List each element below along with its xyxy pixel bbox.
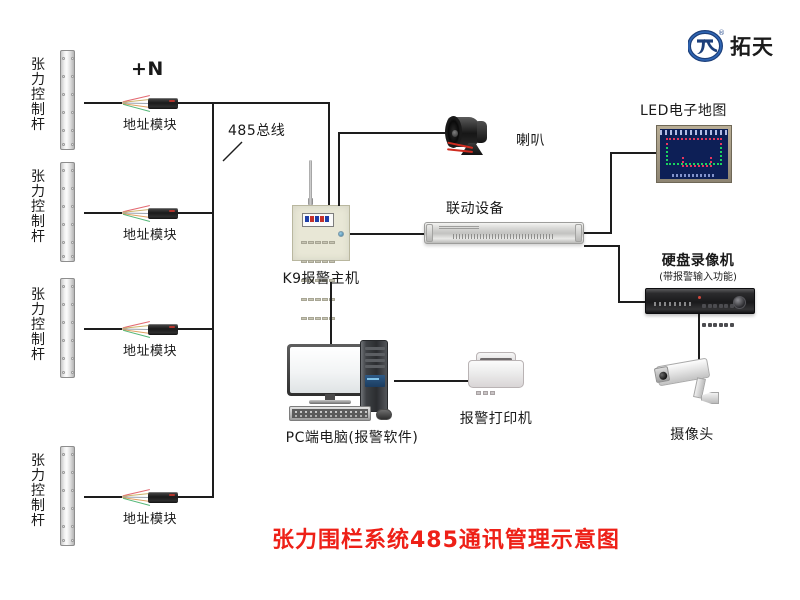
linkage-to-ledmap-vertical bbox=[610, 152, 612, 234]
tension-pole-1 bbox=[60, 50, 75, 150]
module-to-bus-wire-1 bbox=[178, 102, 214, 104]
brand-logo: ® 拓天 bbox=[688, 30, 774, 62]
cctv-camera bbox=[655, 358, 727, 410]
address-module-4 bbox=[122, 486, 178, 508]
camera-label: 摄像头 bbox=[670, 424, 714, 444]
led-map-device bbox=[656, 125, 732, 183]
linkage-to-dvr-vertical bbox=[618, 245, 620, 303]
module-label-3: 地址模块 bbox=[123, 340, 177, 359]
pc-mouse bbox=[376, 409, 392, 420]
bus-to-host-vertical bbox=[328, 102, 330, 212]
ledmap-label: LED电子地图 bbox=[640, 100, 727, 120]
host-to-siren-horizontal bbox=[338, 132, 448, 134]
siren-speaker bbox=[447, 115, 503, 157]
tuotian-swirl-icon: ® bbox=[688, 30, 724, 62]
linkage-label: 联动设备 bbox=[446, 198, 504, 218]
pc-tower bbox=[360, 340, 388, 412]
expand-count-label: +N bbox=[131, 58, 164, 80]
dvr-label: 硬盘录像机 bbox=[662, 250, 735, 270]
linkage-to-dvr-horizontal bbox=[584, 245, 620, 247]
pole-to-module-wire-4 bbox=[84, 496, 122, 498]
tension-pole-4 bbox=[60, 446, 75, 546]
linkage-to-ledmap-horizontal bbox=[584, 232, 612, 234]
pole-to-module-wire-2 bbox=[84, 212, 122, 214]
ledmap-input-wire bbox=[610, 152, 658, 154]
host-to-pc-wire bbox=[330, 282, 332, 344]
host-antenna-icon bbox=[309, 160, 312, 200]
address-module-2 bbox=[122, 202, 178, 224]
pole-label-2: 张力控制杆 bbox=[30, 170, 46, 245]
tension-pole-2 bbox=[60, 162, 75, 262]
pc-keyboard bbox=[289, 406, 371, 421]
diagram-canvas: ® 拓天 张力控制杆 地址模块 +N 张力控制杆 bbox=[0, 0, 800, 600]
pole-label-1: 张力控制杆 bbox=[30, 58, 46, 133]
pc-to-printer-wire bbox=[394, 380, 470, 382]
pole-label-4: 张力控制杆 bbox=[30, 454, 46, 529]
dvr-to-camera-wire bbox=[698, 314, 700, 360]
bus-label: 485总线 bbox=[228, 120, 285, 140]
module-label-4: 地址模块 bbox=[123, 508, 177, 527]
tension-pole-3 bbox=[60, 278, 75, 378]
registered-mark: ® bbox=[718, 29, 725, 37]
pc-label: PC端电脑(报警软件) bbox=[286, 427, 419, 447]
address-module-3 bbox=[122, 318, 178, 340]
module-label-1: 地址模块 bbox=[123, 114, 177, 133]
rs485-bus-trunk bbox=[212, 102, 214, 498]
brand-name: 拓天 bbox=[730, 31, 774, 61]
bus-to-host-horizontal bbox=[212, 102, 330, 104]
dvr-sublabel: (带报警输入功能) bbox=[659, 268, 737, 283]
host-display bbox=[302, 213, 334, 227]
address-module-1 bbox=[122, 92, 178, 114]
host-indicator-icon bbox=[338, 231, 344, 237]
alarm-printer bbox=[468, 352, 524, 388]
module-to-bus-wire-4 bbox=[178, 496, 214, 498]
module-label-2: 地址模块 bbox=[123, 224, 177, 243]
linkage-rack-device bbox=[424, 222, 584, 244]
module-to-bus-wire-3 bbox=[178, 328, 214, 330]
host-to-siren-vertical bbox=[338, 132, 340, 206]
pole-to-module-wire-3 bbox=[84, 328, 122, 330]
siren-wires-icon bbox=[447, 145, 477, 155]
diagram-title: 张力围栏系统485通讯管理示意图 bbox=[272, 522, 620, 554]
host-to-linkage-wire bbox=[350, 233, 424, 235]
k9-alarm-host bbox=[292, 205, 350, 261]
printer-label: 报警打印机 bbox=[460, 408, 533, 428]
pole-label-3: 张力控制杆 bbox=[30, 288, 46, 363]
module-to-bus-wire-2 bbox=[178, 212, 214, 214]
dvr-device bbox=[645, 288, 755, 314]
host-label: K9报警主机 bbox=[282, 268, 359, 288]
bus-leader-line bbox=[222, 140, 244, 162]
siren-label: 喇叭 bbox=[516, 130, 545, 150]
pole-to-module-wire-1 bbox=[84, 102, 122, 104]
